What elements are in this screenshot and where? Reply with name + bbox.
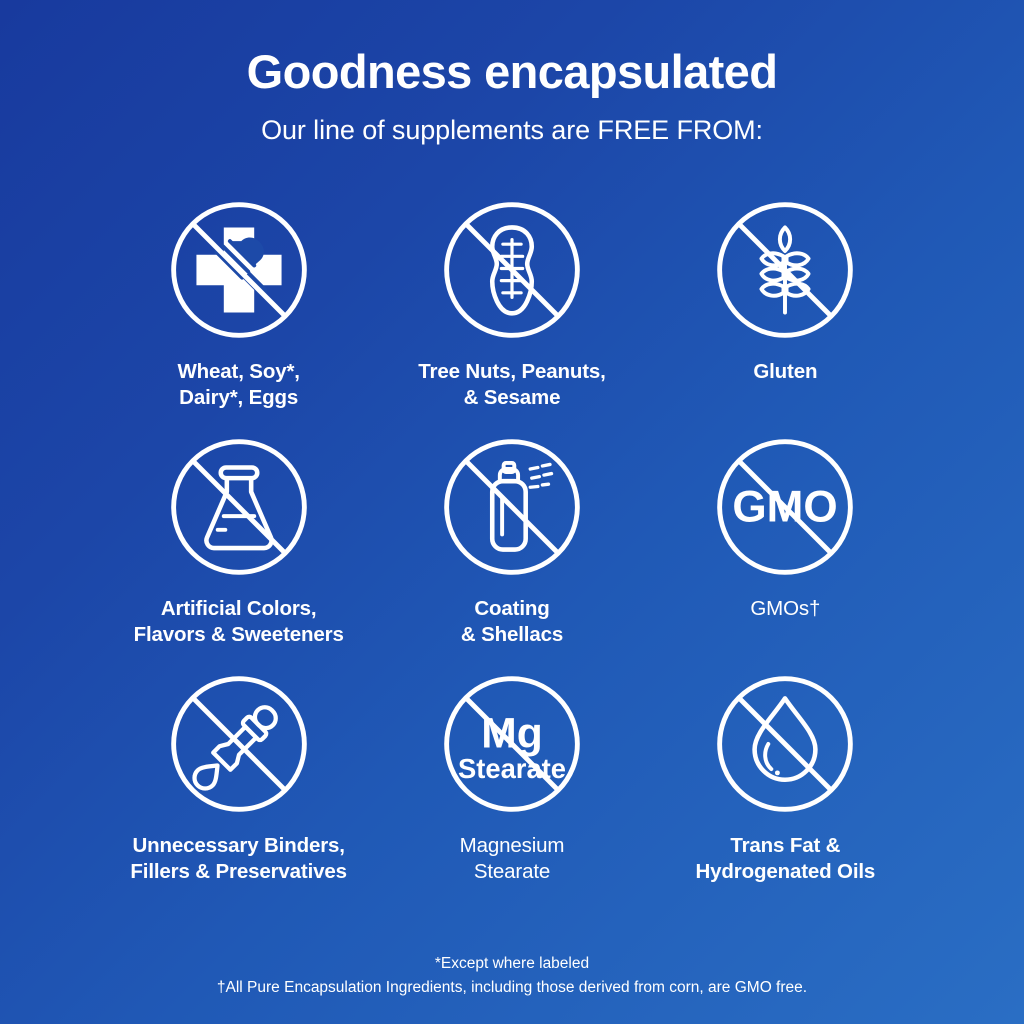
free-from-item-wheat-soy-dairy-eggs: Wheat, Soy*, Dairy*, Eggs	[102, 194, 375, 411]
free-from-grid: Wheat, Soy*, Dairy*, Eggs	[102, 194, 922, 885]
no-peanut-icon	[436, 194, 588, 346]
no-trans-fat-icon	[709, 668, 861, 820]
page-subtitle: Our line of supplements are FREE FROM:	[0, 115, 1024, 146]
no-artificial-colors-icon	[163, 431, 315, 583]
free-from-item-label: GMOs†	[750, 596, 820, 622]
footnote-asterisk: *Except where labeled	[0, 952, 1024, 976]
free-from-item-gmos: GMO GMOs†	[649, 431, 922, 648]
no-gluten-icon	[709, 194, 861, 346]
free-from-item-coating-shellacs: Coating & Shellacs	[375, 431, 648, 648]
footnote-dagger: †All Pure Encapsulation Ingredients, inc…	[0, 976, 1024, 1000]
no-binders-fillers-icon	[163, 668, 315, 820]
mg-icon-text: Mg	[481, 709, 542, 757]
no-gmo-icon: GMO	[709, 431, 861, 583]
no-coating-shellac-icon	[436, 431, 588, 583]
footnotes: *Except where labeled †All Pure Encapsul…	[0, 952, 1024, 1000]
free-from-item-trans-fat: Trans Fat & Hydrogenated Oils	[649, 668, 922, 885]
free-from-item-label: Artificial Colors, Flavors & Sweeteners	[134, 596, 344, 648]
free-from-item-label: Magnesium Stearate	[460, 833, 565, 885]
free-from-item-tree-nuts-peanuts-sesame: Tree Nuts, Peanuts, & Sesame	[375, 194, 648, 411]
no-magnesium-stearate-icon: Mg Stearate	[436, 668, 588, 820]
infographic-page: Goodness encapsulated Our line of supple…	[0, 0, 1024, 1024]
free-from-item-magnesium-stearate: Mg Stearate Magnesium Stearate	[375, 668, 648, 885]
page-title: Goodness encapsulated	[0, 46, 1024, 99]
free-from-item-label: Coating & Shellacs	[461, 596, 563, 648]
free-from-item-binders-fillers: Unnecessary Binders, Fillers & Preservat…	[102, 668, 375, 885]
free-from-item-label: Wheat, Soy*, Dairy*, Eggs	[177, 359, 299, 411]
header: Goodness encapsulated Our line of supple…	[0, 0, 1024, 146]
free-from-item-label: Trans Fat & Hydrogenated Oils	[695, 833, 875, 885]
free-from-item-artificial-colors: Artificial Colors, Flavors & Sweeteners	[102, 431, 375, 648]
free-from-item-gluten: Gluten	[649, 194, 922, 411]
free-from-item-label: Unnecessary Binders, Fillers & Preservat…	[130, 833, 347, 885]
free-from-item-label: Gluten	[753, 359, 817, 385]
free-from-item-label: Tree Nuts, Peanuts, & Sesame	[418, 359, 605, 411]
no-wheat-soy-dairy-eggs-icon	[163, 194, 315, 346]
